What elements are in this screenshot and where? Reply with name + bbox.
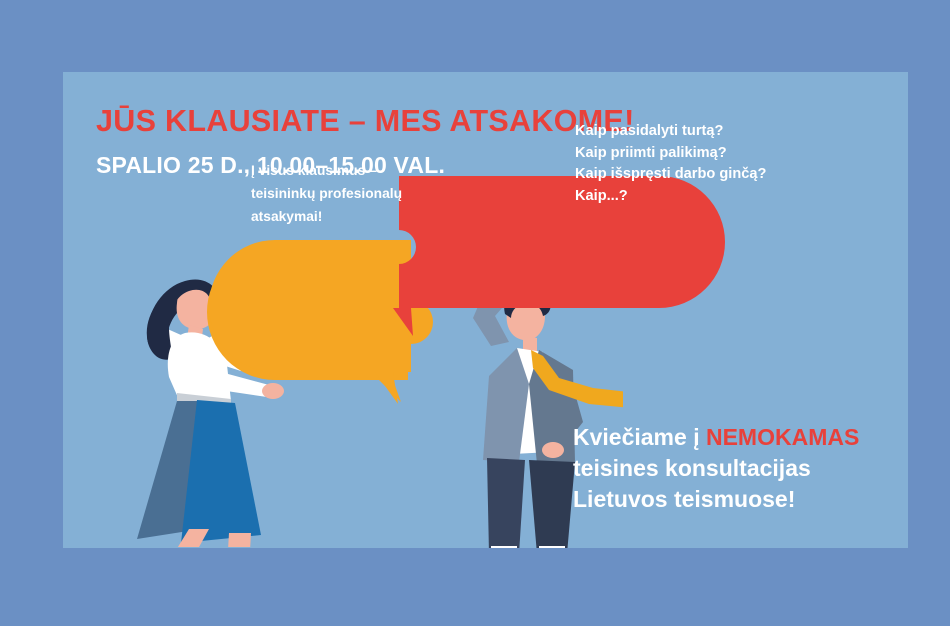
man-trousers-left xyxy=(487,458,525,548)
closing-message: Kviečiame į NEMOKAMAS teisines konsultac… xyxy=(573,422,859,515)
woman-front-arm-raised xyxy=(207,307,271,355)
man-hand-in-pocket xyxy=(542,442,564,458)
man-trousers-right xyxy=(529,460,575,548)
red-bubble-text: Kaip pasidalyti turtą? Kaip priimti pali… xyxy=(575,121,766,207)
man-sock-left xyxy=(491,546,517,548)
poster-inner-panel: JŪS KLAUSIATE – MES ATSAKOME! SPALIO 25 … xyxy=(63,72,908,548)
closing-line-2: teisines konsultacijas xyxy=(573,453,859,484)
red-bubble-line-3: Kaip išspręsti darbo ginčą? xyxy=(575,164,766,186)
yellow-bubble-text: Į visus klausimus – teisininkų profesion… xyxy=(251,159,411,228)
closing-line-3: Lietuvos teismuose! xyxy=(573,484,859,515)
poster-canvas: JŪS KLAUSIATE – MES ATSAKOME! SPALIO 25 … xyxy=(0,0,950,626)
red-bubble-line-2: Kaip priimti palikimą? xyxy=(575,143,766,165)
closing-line-1: Kviečiame į NEMOKAMAS xyxy=(573,422,859,453)
walking-woman-illustration xyxy=(85,267,295,547)
red-bubble-line-1: Kaip pasidalyti turtą? xyxy=(575,121,766,143)
closing-accent-word: NEMOKAMAS xyxy=(706,424,859,450)
page-title: JŪS KLAUSIATE – MES ATSAKOME! xyxy=(96,104,635,139)
woman-hand-lower xyxy=(262,383,284,399)
red-bubble-line-4: Kaip...? xyxy=(575,186,766,208)
man-sock-right xyxy=(539,546,565,548)
closing-line-1-prefix: Kviečiame į xyxy=(573,424,706,450)
